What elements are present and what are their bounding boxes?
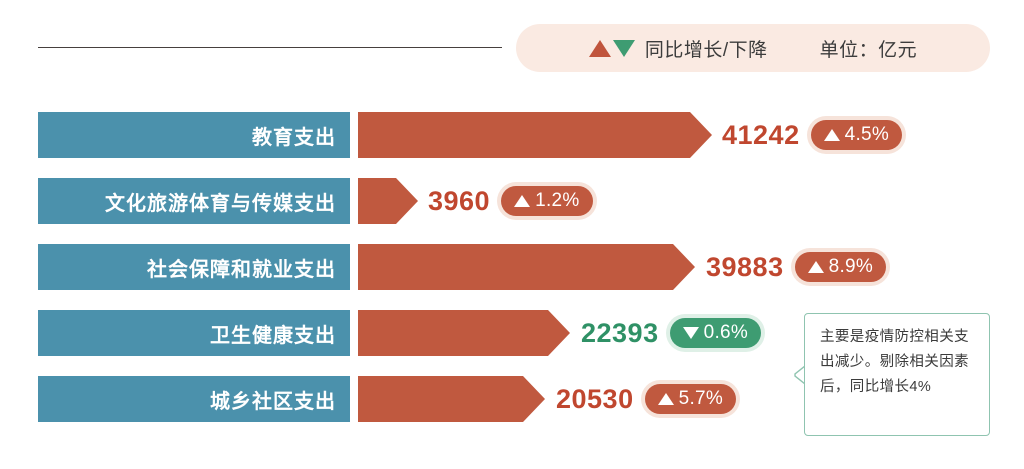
category-label-text: 城乡社区支出 [210,385,336,414]
annotation-callout: 主要是疫情防控相关支出减少。剔除相关因素后，同比增长4% [804,313,990,436]
triangle-down-icon [613,40,635,57]
value-number: 22393 [581,318,659,349]
value-arrow-bar [358,178,418,224]
change-percent-text: 8.9% [829,256,874,278]
legend-label: 同比增长/下降 [645,35,768,62]
value-area: 412424.5% [722,112,902,158]
value-arrow-bar [358,112,712,158]
change-badge: 0.6% [670,318,762,348]
category-label-text: 社会保障和就业支出 [147,253,336,282]
legend-unit-label: 单位：亿元 [820,35,918,62]
chart-row: 教育支出412424.5% [0,112,1024,158]
change-percent-text: 5.7% [679,388,724,410]
legend-inner: 同比增长/下降 单位：亿元 [589,35,917,62]
category-label-bar: 社会保障和就业支出 [38,244,350,290]
category-label-bar: 城乡社区支出 [38,376,350,422]
triangle-up-icon [808,261,824,273]
legend-panel: 同比增长/下降 单位：亿元 [516,24,990,72]
value-number: 39883 [706,252,784,283]
change-badge: 5.7% [645,384,737,414]
change-percent-text: 1.2% [535,190,580,212]
change-badge: 4.5% [811,120,903,150]
triangle-up-icon [589,40,611,57]
change-badge: 1.2% [501,186,593,216]
header-divider-rule [38,47,502,48]
category-label-bar: 教育支出 [38,112,350,158]
value-arrow-bar [358,310,570,356]
change-percent-text: 4.5% [845,124,890,146]
annotation-pointer-icon [794,366,805,384]
value-arrow-bar [358,376,545,422]
triangle-up-icon [824,129,840,141]
value-area: 39601.2% [428,178,593,224]
chart-row: 社会保障和就业支出398838.9% [0,244,1024,290]
value-area: 223930.6% [581,310,761,356]
legend-triangles [589,40,635,57]
value-area: 205305.7% [556,376,736,422]
category-label-text: 卫生健康支出 [210,319,336,348]
category-label-bar: 卫生健康支出 [38,310,350,356]
category-label-bar: 文化旅游体育与传媒支出 [38,178,350,224]
change-percent-text: 0.6% [704,322,749,344]
value-number: 3960 [428,186,490,217]
value-arrow-bar [358,244,695,290]
category-label-text: 教育支出 [252,121,336,150]
chart-row: 文化旅游体育与传媒支出39601.2% [0,178,1024,224]
triangle-up-icon [658,393,674,405]
expenditure-infographic: 同比增长/下降 单位：亿元 教育支出412424.5%文化旅游体育与传媒支出39… [0,0,1024,469]
triangle-up-icon [514,195,530,207]
annotation-text: 主要是疫情防控相关支出减少。剔除相关因素后，同比增长4% [820,325,977,400]
value-number: 41242 [722,120,800,151]
value-number: 20530 [556,384,634,415]
change-badge: 8.9% [795,252,887,282]
value-area: 398838.9% [706,244,886,290]
triangle-down-icon [683,327,699,339]
category-label-text: 文化旅游体育与传媒支出 [105,187,336,216]
